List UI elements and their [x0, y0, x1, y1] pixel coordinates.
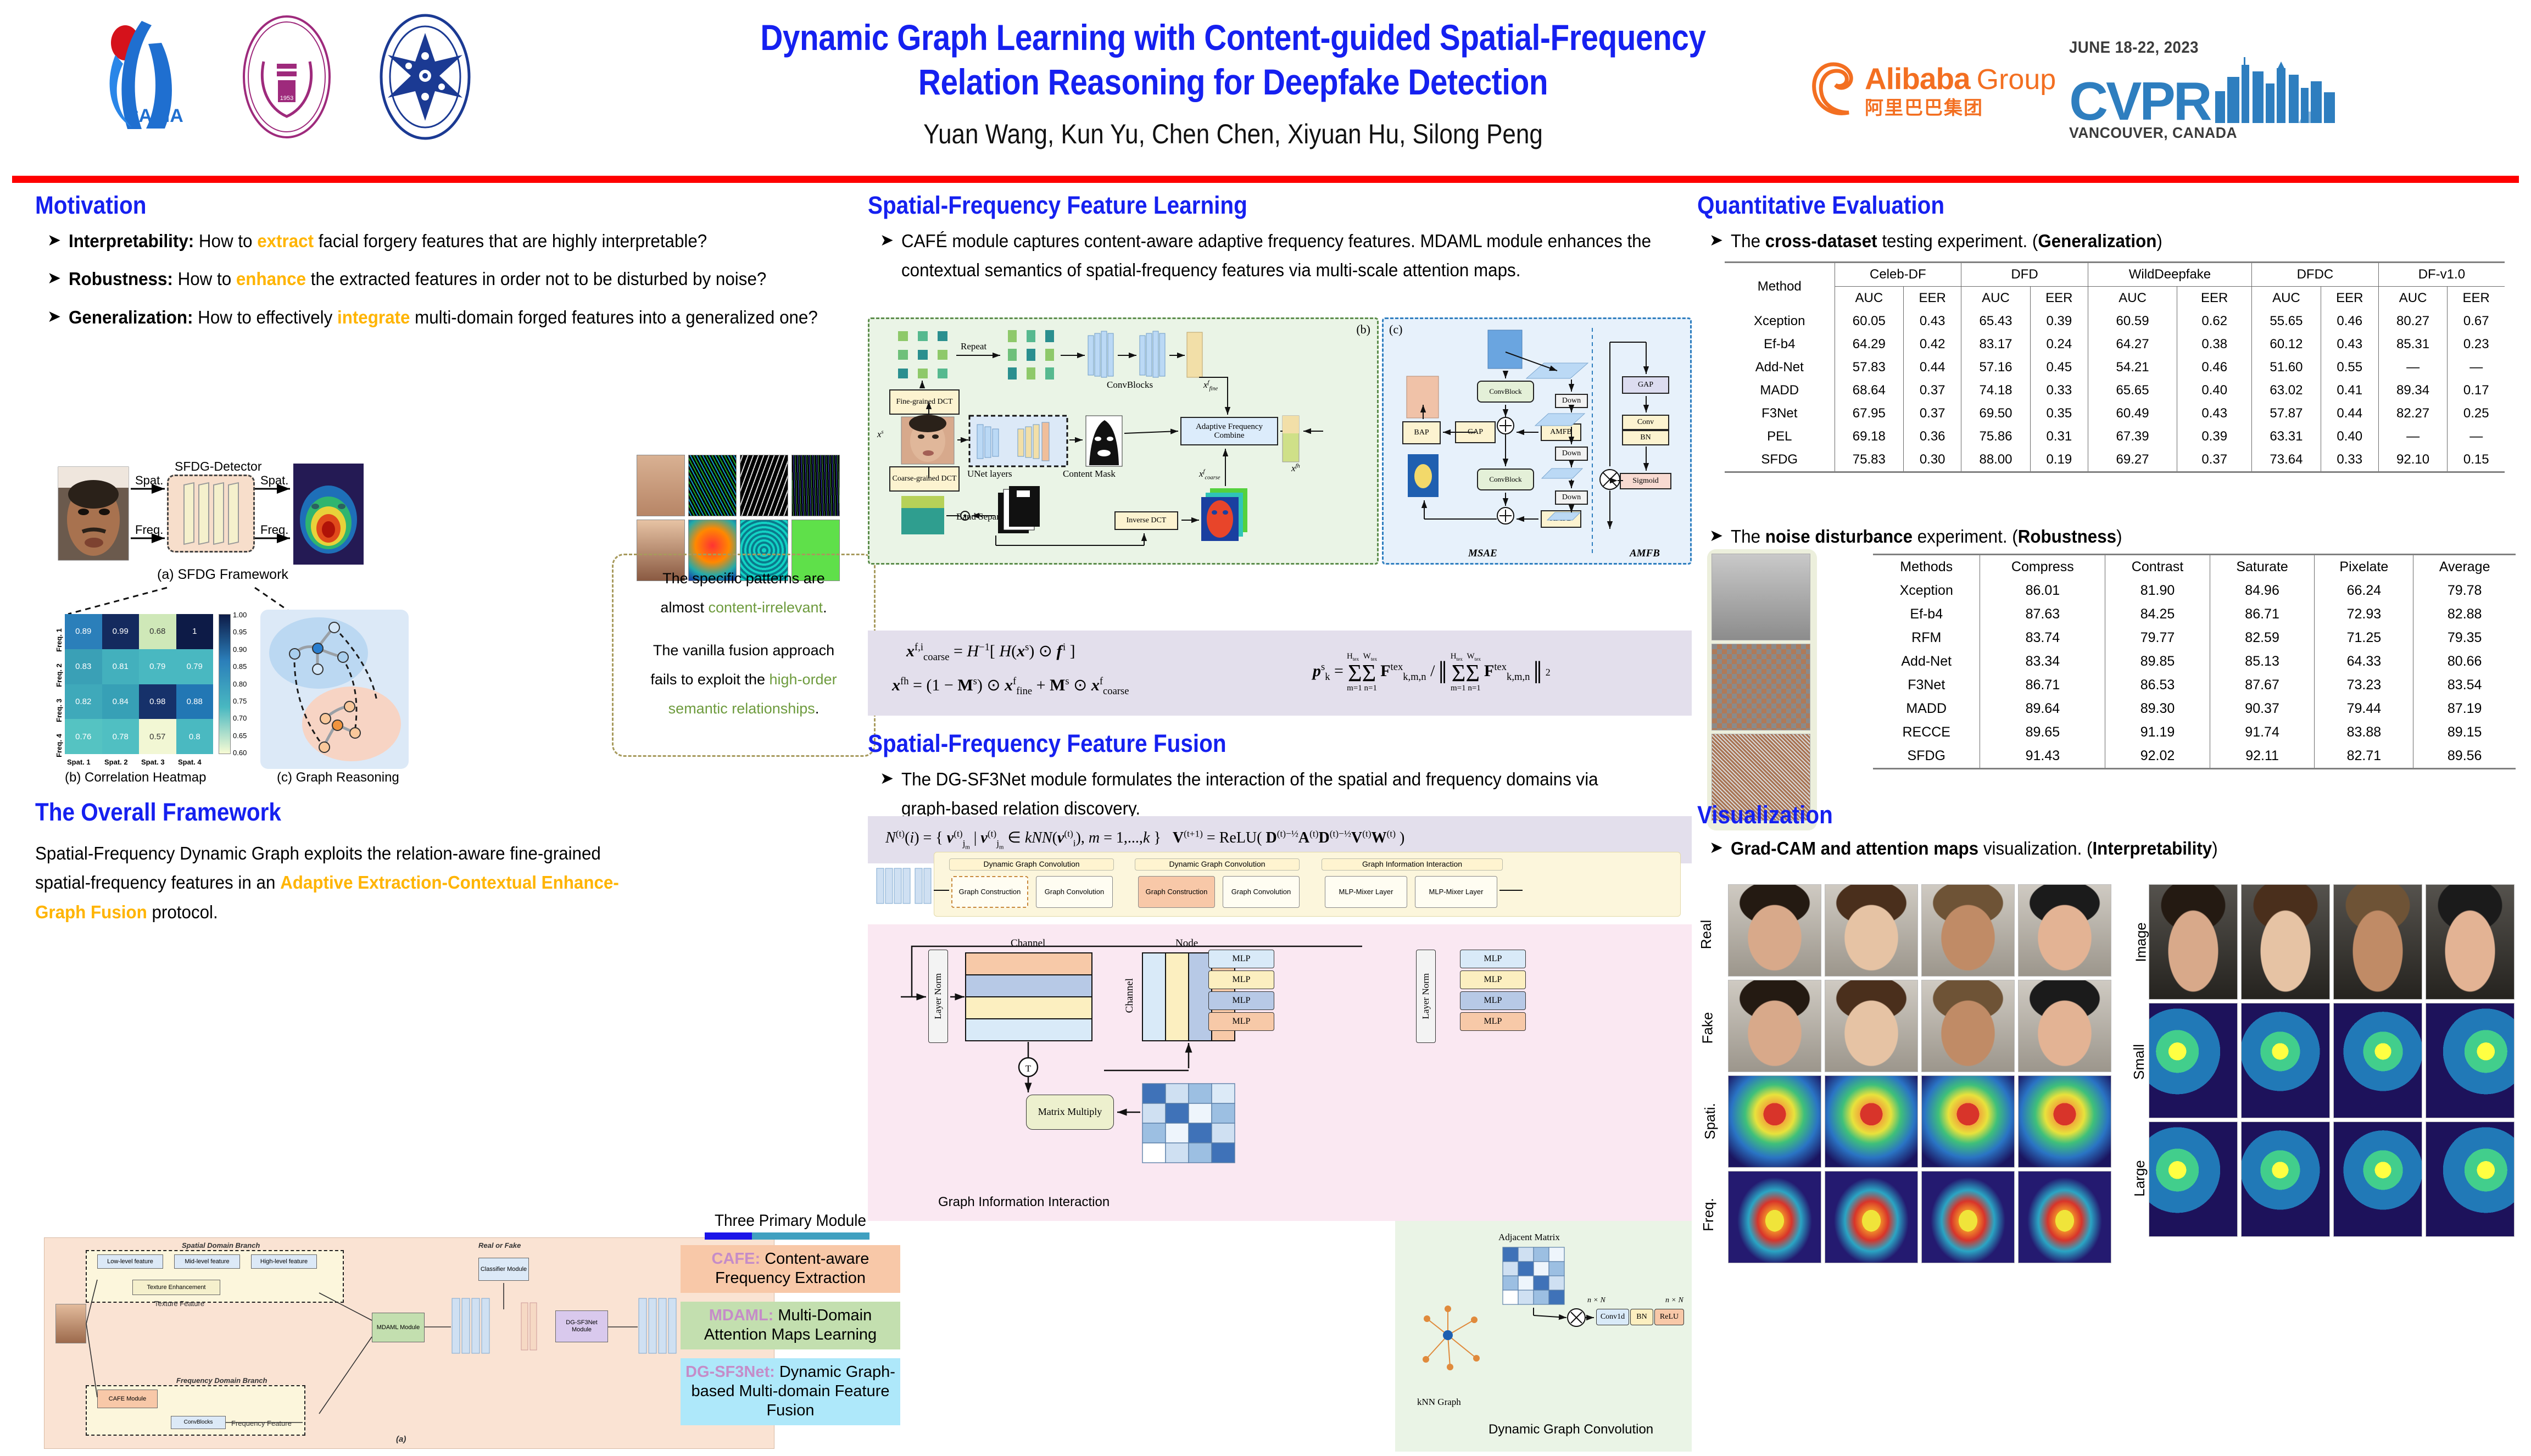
gen-row-cell: 80.27 [2378, 310, 2448, 333]
graph-node [289, 648, 300, 660]
visualization-section: Visualization ➤ Grad-CAM and attention m… [1697, 801, 2243, 872]
table-row: SFDG75.830.3088.000.1969.270.3773.640.33… [1725, 448, 2505, 471]
fw-box-cafe-module: CAFE Module [97, 1390, 158, 1408]
heatmap-cell: 0.8 [176, 719, 214, 754]
vis-cell [2333, 1003, 2422, 1118]
fw-label-panel: (a) [396, 1435, 406, 1444]
vis-bullet-bold2: Interpretability [2093, 838, 2212, 858]
noise-example-pixelate [1712, 644, 1810, 730]
vis-row-label-spati: Spati. [1702, 1103, 1719, 1140]
pattern-cell [791, 455, 840, 516]
header-divider-rule [12, 176, 2519, 183]
heatmap-cell: 0.88 [176, 684, 214, 719]
brand-row: Alibaba Group 阿里巴巴集团 JUNE 18-22, 2023 CV… [1807, 38, 2338, 142]
rob-row-cell: 87.63 [1980, 603, 2105, 626]
layer-norm-box-right: Layer Norm [1416, 950, 1436, 1043]
noise-example-panel [1707, 549, 1817, 830]
correlation-heatmap: 0.89 0.99 0.68 1 0.83 0.81 0.79 0.79 0.8… [65, 614, 213, 754]
gen-row-cell: 0.33 [2030, 379, 2088, 402]
tpm-title: Three Primary Module [688, 1212, 893, 1230]
rob-row-method: Ef-b4 [1873, 603, 1980, 626]
gen-row-cell: 0.42 [1904, 333, 1961, 356]
cas-logo [370, 11, 480, 143]
sfdg-figure: SFDG-Detector Spat. Freq. Spat. Freq. (a… [57, 455, 617, 795]
gen-row-cell: 0.62 [2177, 310, 2252, 333]
equation-3: psk = Htex Wtex ΣΣ m=1 n=1 Ftexk,m,n / ‖… [1313, 652, 1551, 693]
fw-label-freq-feature: Frequency Feature [231, 1419, 292, 1427]
gen-row-cell: 0.55 [2321, 356, 2378, 379]
sf-learning-bullet: ➤ CAFÉ module captures content-aware ada… [880, 226, 1692, 285]
rob-table-header: Saturate [2210, 555, 2315, 579]
gen-row-cell: 65.65 [2088, 379, 2177, 402]
generalization-table-wrapper: Method Celeb-DF DFD WildDeepfake DFDC DF… [1725, 261, 2505, 473]
heatmap-cell: 0.76 [65, 719, 102, 754]
rob-row-cell: 82.59 [2210, 626, 2315, 650]
bullet-arrow-icon: ➤ [1709, 834, 1723, 863]
table-row: RFM83.7479.7782.5971.2579.35 [1873, 626, 2516, 650]
msae-amfb-diagram: (c) BAP GAP ConvBlock ConvBlock AMFB AMF… [1382, 317, 1692, 565]
graph-node [320, 713, 331, 724]
gen-row-cell: 0.35 [2030, 402, 2088, 425]
graph-node [337, 651, 349, 663]
mlp-mid-box-1: MLP [1208, 950, 1274, 968]
bullet-arrow-icon: ➤ [1709, 226, 1723, 255]
heatmap-cell: 0.82 [65, 684, 102, 719]
vis-cell [1825, 1075, 1918, 1168]
fw-label-spatial-branch: Spatial Domain Branch [182, 1241, 260, 1249]
vis-cell [2018, 1171, 2111, 1263]
cvpr-acronym: CVPR [2069, 79, 2210, 123]
gen-row-cell: 69.50 [1961, 402, 2031, 425]
motivation-bullet-1-highlight: extract [257, 231, 314, 251]
rob-row-cell: 82.88 [2413, 603, 2516, 626]
gen-table-metric-header: AUC [1835, 287, 1904, 310]
quantitative-bullet: ➤ The cross-dataset testing experiment. … [1709, 226, 2521, 255]
mlp-box-3: MLP [1460, 991, 1526, 1010]
gen-row-cell: 0.23 [2448, 333, 2505, 356]
heatmap-xtick-0: Spat. 1 [67, 758, 91, 766]
colorbar-tick: 0.60 [233, 749, 247, 757]
output-spat-label: Spat. [260, 473, 288, 488]
rob-table-header: Methods [1873, 555, 1980, 579]
heatmap-cell: 0.83 [65, 649, 102, 684]
graph-node [349, 727, 361, 739]
rob-row-cell: 81.90 [2105, 579, 2210, 603]
gen-row-cell: 0.46 [2177, 356, 2252, 379]
motivation-bullet-3-lead: Generalization: [69, 307, 193, 327]
svg-text:1953: 1953 [280, 95, 293, 102]
bullet-arrow-icon: ➤ [47, 226, 61, 255]
tpm-item-dgsf3net: DG-SF3Net: Dynamic Graph-based Multi-dom… [681, 1358, 900, 1425]
vis-bullet-bold: Grad-CAM and attention maps [1731, 838, 1978, 858]
rob-table-header: Average [2413, 555, 2516, 579]
vis-cell [2149, 1003, 2238, 1118]
heatmap-colorbar [219, 614, 231, 754]
gen-row-cell: 75.86 [1961, 425, 2031, 448]
gen-row-cell: 73.64 [2252, 448, 2321, 471]
diagram-b-svg [869, 319, 1380, 566]
fw-box-high-feature: High-level feature [251, 1254, 317, 1269]
overall-framework-section: The Overall Framework Spatial-Frequency … [35, 798, 859, 927]
gen-row-cell: 69.27 [2088, 448, 2177, 471]
rob-row-cell: 72.93 [2315, 603, 2413, 626]
vis-row-label-real: Real [1698, 920, 1715, 949]
middle-column: Spatial-Frequency Feature Learning ➤ CAF… [868, 191, 1692, 294]
svg-text:T: T [1025, 1063, 1032, 1074]
gen-row-cell: 85.31 [2378, 333, 2448, 356]
section-title-visualization: Visualization [1697, 801, 2189, 829]
pattern-cell [688, 455, 737, 516]
quant-bullet-pre: The [1731, 231, 1765, 251]
table-row: Ef-b487.6384.2586.7172.9382.88 [1873, 603, 2516, 626]
gen-table-metric-header: AUC [2252, 287, 2321, 310]
heatmap-cell: 1 [176, 614, 214, 649]
rob-row-cell: 86.71 [2210, 603, 2315, 626]
rob-row-cell: 79.77 [2105, 626, 2210, 650]
note-highlight: content-irrelevant [708, 599, 823, 616]
diagram-c-svg [1384, 319, 1693, 566]
motivation-bullet-1: ➤ Interpretability: How to extract facia… [47, 226, 859, 255]
gen-row-cell: 60.05 [1835, 310, 1904, 333]
rob-row-cell: 79.35 [2413, 626, 2516, 650]
rob-row-cell: 64.33 [2315, 650, 2413, 673]
rob-row-cell: 85.13 [2210, 650, 2315, 673]
graph-node [328, 622, 340, 633]
alibaba-mark-icon [1807, 60, 1859, 120]
gen-table-method-header: Method [1725, 263, 1835, 310]
svg-text:n × N: n × N [1665, 1296, 1683, 1304]
table-row: F3Net67.950.3769.500.3560.490.4357.870.4… [1725, 402, 2505, 425]
motivation-bullet-2-post: the extracted features in order not to b… [306, 269, 766, 289]
alibaba-logo: Alibaba Group 阿里巴巴集团 [1807, 60, 2056, 120]
input-freq-label: Freq. [135, 523, 163, 537]
gen-row-method: Xception [1725, 310, 1835, 333]
gen-row-cell: 89.34 [2378, 379, 2448, 402]
rob-row-cell: 86.53 [2105, 673, 2210, 697]
rob-bullet-bold1: noise disturbance [1765, 526, 1913, 546]
rob-row-method: SFDG [1873, 744, 1980, 768]
poster-header: CASIA 1953 [0, 0, 2531, 187]
rob-row-cell: 84.25 [2105, 603, 2210, 626]
gen-row-cell: 0.41 [2321, 379, 2378, 402]
generalization-table: Method Celeb-DF DFD WildDeepfake DFDC DF… [1725, 261, 2505, 471]
fw-box-texture-enhancement: Texture Enhancement [132, 1280, 220, 1295]
fw-label-real-or-fake: Real or Fake [478, 1241, 521, 1249]
gen-row-method: F3Net [1725, 402, 1835, 425]
colorbar-tick: 0.90 [233, 645, 247, 654]
mlp-mixer-panel: Layer Norm MLP MLP MLP MLP [1394, 924, 1692, 1221]
gen-table-metric-header: EER [2030, 287, 2088, 310]
gen-row-cell: 0.19 [2030, 448, 2088, 471]
gen-row-cell: 0.44 [1904, 356, 1961, 379]
vis-cell [2426, 1122, 2515, 1237]
gen-row-cell: 0.24 [2030, 333, 2088, 356]
svg-text:n × N: n × N [1587, 1296, 1605, 1304]
sfdg-caption-b: (b) Correlation Heatmap [65, 770, 206, 785]
vis-cell [2426, 884, 2515, 1000]
gen-row-cell: — [2448, 425, 2505, 448]
colorbar-tick: 0.95 [233, 628, 247, 636]
rob-row-cell: 83.54 [2413, 673, 2516, 697]
note-text: almost [660, 599, 708, 616]
table-row: Xception60.050.4365.430.3960.590.6255.65… [1725, 310, 2505, 333]
section-title-sf-fusion: Spatial-Frequency Feature Fusion [868, 729, 1609, 758]
quant-bullet-mid: testing experiment. ( [1877, 231, 2038, 251]
fw-box-convblocks: ConvBlocks [171, 1416, 226, 1429]
fw-box-dgsf3net-module: DG-SF3Net Module [555, 1310, 608, 1342]
visualization-grids: Real Fake Spati. Freq. Image Small Large [1697, 879, 2521, 1274]
gen-row-cell: 55.65 [2252, 310, 2321, 333]
left-column: Motivation ➤ Interpretability: How to ex… [35, 191, 859, 341]
rob-row-method: MADD [1873, 697, 1980, 721]
bullet-arrow-icon: ➤ [47, 303, 61, 332]
tpm-dg-key: DG-SF3Net: [685, 1363, 775, 1381]
motivation-bullet-3-post: multi-domain forged features into a gene… [410, 307, 818, 327]
gen-table-metric-header: EER [2177, 287, 2252, 310]
equation-band-1: xf,icoarse = H−1[ H(xs) ⊙ f i ] xfh = (1… [868, 631, 1692, 716]
vis-bullet-rest: visualization. ( [1978, 838, 2092, 858]
logo-row: CASIA 1953 [93, 11, 480, 143]
gen-row-cell: — [2378, 425, 2448, 448]
bullet-arrow-icon: ➤ [880, 765, 894, 823]
vis-cell [1921, 1075, 2015, 1168]
overall-framework-text: Spatial-Frequency Dynamic Graph exploits… [35, 839, 640, 927]
robustness-table-body: Xception86.0181.9084.9666.2479.78Ef-b487… [1873, 579, 2516, 768]
table-row: Add-Net83.3489.8585.1364.3380.66 [1873, 650, 2516, 673]
equation-2: xfh = (1 − Ms) ⊙ xffine + Ms ⊙ xfcoarse [892, 676, 1129, 698]
gen-table-metric-header: AUC [2378, 287, 2448, 310]
gen-table-metric-header: EER [1904, 287, 1961, 310]
fw-box-low-feature: Low-level feature [97, 1254, 163, 1269]
fusion-top-svg [868, 842, 1692, 924]
motivation-bullet-3: ➤ Generalization: How to effectively int… [47, 303, 859, 332]
output-freq-label: Freq. [260, 523, 288, 537]
heatmap-cell: 0.78 [102, 719, 140, 754]
vancouver-skyline-icon [2212, 57, 2338, 123]
vis-row-label-fake: Fake [1699, 1012, 1716, 1044]
robustness-table-wrapper: Methods Compress Contrast Saturate Pixel… [1873, 554, 2516, 769]
motivation-bullet-3-pre: How to effectively [193, 307, 338, 327]
gen-row-cell: — [2448, 356, 2505, 379]
casia-logo: CASIA [93, 11, 203, 143]
rob-row-method: RFM [1873, 626, 1980, 650]
gen-row-cell: 0.39 [2177, 425, 2252, 448]
section-title-quantitative: Quantitative Evaluation [1697, 191, 2439, 220]
gen-row-cell: 0.31 [2030, 425, 2088, 448]
mlp-box-4: MLP [1460, 1012, 1526, 1031]
cvpr-date: JUNE 18-22, 2023 [2069, 38, 2317, 57]
rob-row-cell: 79.44 [2315, 697, 2413, 721]
rob-row-cell: 92.02 [2105, 744, 2210, 768]
rob-row-cell: 91.19 [2105, 721, 2210, 744]
graph-node [312, 663, 324, 675]
rob-row-cell: 84.96 [2210, 579, 2315, 603]
fw-label-freq-branch: Frequency Domain Branch [176, 1376, 267, 1385]
motivation-bullet-2-pre: How to [173, 269, 236, 289]
vis-bullet-end: ) [2212, 838, 2217, 858]
colorbar-tick: 0.80 [233, 680, 247, 688]
gen-row-cell: 0.38 [2177, 333, 2252, 356]
casia-logo-text: CASIA [125, 105, 183, 126]
title-block: Dynamic Graph Learning with Content-guid… [648, 15, 1818, 150]
sfdg-caption-c: (c) Graph Reasoning [277, 770, 399, 785]
gen-row-cell: 63.02 [2252, 379, 2321, 402]
rob-row-cell: 87.19 [2413, 697, 2516, 721]
gen-row-cell: 60.12 [2252, 333, 2321, 356]
heatmap-cell: 0.89 [65, 614, 102, 649]
gen-row-method: Ef-b4 [1725, 333, 1835, 356]
poster-title-line-1: Dynamic Graph Learning with Content-guid… [730, 15, 1736, 60]
gen-row-cell: 83.17 [1961, 333, 2031, 356]
sf-fusion-bullet: ➤ The DG-SF3Net module formulates the in… [880, 765, 1692, 823]
gen-row-cell: 0.44 [2321, 402, 2378, 425]
rob-row-cell: 89.30 [2105, 697, 2210, 721]
note-text: . [823, 599, 827, 616]
gen-row-cell: 54.21 [2088, 356, 2177, 379]
table-row: MADD68.640.3774.180.3365.650.4063.020.41… [1725, 379, 2505, 402]
heatmap-colorbar-ticks: 1.00 0.95 0.90 0.85 0.80 0.75 0.70 0.65 … [233, 611, 247, 757]
mlp-mid-box-3: MLP [1208, 991, 1274, 1010]
vis-cell [1825, 980, 1918, 1072]
vis-cell [1825, 1171, 1918, 1263]
gen-row-cell: 0.46 [2321, 310, 2378, 333]
vis-cell [2149, 884, 2238, 1000]
vis-cell [1921, 884, 2015, 977]
graph-node [312, 643, 324, 654]
rob-row-method: F3Net [1873, 673, 1980, 697]
colorbar-tick: 0.75 [233, 697, 247, 705]
fw-box-mid-feature: Mid-level feature [174, 1254, 240, 1269]
vis-cell [2241, 1122, 2330, 1237]
vis-cell [2241, 884, 2330, 1000]
vis-row-label-freq: Freq. [1700, 1198, 1717, 1231]
gen-row-cell: 0.43 [2177, 402, 2252, 425]
framework-text-post: protocol. [147, 902, 218, 922]
motivation-bullet-2-highlight: enhance [236, 269, 306, 289]
gen-row-cell: 67.95 [1835, 402, 1904, 425]
alibaba-chinese-text: 阿里巴巴集团 [1865, 93, 2056, 120]
gen-row-cell: 0.37 [1904, 379, 1961, 402]
gen-row-method: SFDG [1725, 448, 1835, 471]
heatmap-xtick-1: Spat. 2 [104, 758, 128, 766]
overall-framework-figure: Spatial Domain Branch Real or Fake Frequ… [44, 1237, 774, 1449]
vis-cell [1825, 884, 1918, 977]
gen-row-cell: 75.83 [1835, 448, 1904, 471]
heatmap-ytick-0: Freq. 1 [55, 628, 63, 652]
rob-row-cell: 91.43 [1980, 744, 2105, 768]
note-line-2: The vanilla fusion approach fails to exp… [625, 636, 863, 723]
gen-row-cell: 0.15 [2448, 448, 2505, 471]
rob-row-cell: 73.23 [2315, 673, 2413, 697]
table-row: F3Net86.7186.5387.6773.2383.54 [1873, 673, 2516, 697]
equation-1: xf,icoarse = H−1[ H(xs) ⊙ f i ] [906, 641, 1075, 663]
vis-row-label-image: Image [2133, 922, 2150, 962]
gen-row-cell: 0.40 [2321, 425, 2378, 448]
gen-row-cell: 0.36 [1904, 425, 1961, 448]
gen-row-cell: 0.40 [2177, 379, 2252, 402]
colorbar-tick: 0.85 [233, 662, 247, 671]
rob-row-cell: 71.25 [2315, 626, 2413, 650]
heatmap-ytick-1: Freq. 2 [55, 663, 63, 687]
heatmap-cell: 0.57 [139, 719, 176, 754]
rob-row-cell: 92.11 [2210, 744, 2315, 768]
heatmap-xtick-3: Spat. 4 [178, 758, 202, 766]
pattern-cell-real-face [637, 455, 685, 516]
gen-table-metric-header: AUC [2088, 287, 2177, 310]
gen-row-cell: 0.17 [2448, 379, 2505, 402]
quant-bullet-bold2: Generalization [2038, 231, 2156, 251]
dgsf3net-figure: Dynamic Graph Convolution Dynamic Graph … [868, 842, 1692, 1456]
graph-node [319, 741, 330, 753]
gen-row-cell: 0.43 [1904, 310, 1961, 333]
sfdg-detector-box [167, 475, 255, 553]
heatmap-cell: 0.84 [102, 684, 140, 719]
vis-grid-right [2149, 884, 2515, 1237]
rob-row-cell: 90.37 [2210, 697, 2315, 721]
table-row: SFDG91.4392.0292.1182.7189.56 [1873, 744, 2516, 768]
poster-title-line-2: Relation Reasoning for Deepfake Detectio… [730, 60, 1736, 104]
note-text: fails to exploit the [650, 671, 769, 688]
vis-cell [2149, 1122, 2238, 1237]
mlp-box-2: MLP [1460, 970, 1526, 989]
bullet-arrow-icon: ➤ [880, 226, 894, 285]
table-row: Add-Net57.830.4457.160.4554.210.4651.600… [1725, 356, 2505, 379]
gen-row-cell: 0.45 [2030, 356, 2088, 379]
table-row: RECCE89.6591.1991.7483.8889.15 [1873, 721, 2516, 744]
gen-row-cell: 0.43 [2321, 333, 2378, 356]
generalization-table-body: Xception60.050.4365.430.3960.590.6255.65… [1725, 310, 2505, 471]
gen-row-cell: 65.43 [1961, 310, 2031, 333]
gen-table-dataset-header: DFDC [2252, 263, 2379, 287]
gen-table-metric-header: EER [2321, 287, 2378, 310]
cafe-module-diagram: (b) Fine-grained DCT Coarse-grained DCT … [868, 317, 1379, 565]
tpm-color-bar [705, 1232, 869, 1240]
quant-bullet-end: ) [2157, 231, 2162, 251]
rob-row-cell: 91.74 [2210, 721, 2315, 744]
note-highlight: semantic relationships [668, 700, 815, 717]
heatmap-cell: 0.99 [102, 614, 140, 649]
gen-row-cell: 57.16 [1961, 356, 2031, 379]
gen-row-cell: 64.29 [1835, 333, 1904, 356]
rob-table-header: Pixelate [2315, 555, 2413, 579]
rob-row-method: RECCE [1873, 721, 1980, 744]
gen-row-cell: 0.67 [2448, 310, 2505, 333]
motivation-bullet-1-post: facial forgery features that are highly … [314, 231, 707, 251]
fw-label-texture-feature: Texture Feature [154, 1299, 204, 1308]
gen-row-method: PEL [1725, 425, 1835, 448]
section-title-motivation: Motivation [35, 191, 777, 220]
vis-cell [1921, 1171, 2015, 1263]
gen-row-cell: 74.18 [1961, 379, 2031, 402]
mlp-box-1: MLP [1460, 950, 1526, 968]
dgc-svg: n × N n × N [1395, 1221, 1692, 1452]
rob-table-header: Compress [1980, 555, 2105, 579]
rob-row-cell: 82.71 [2315, 744, 2413, 768]
heatmap-cell: 0.81 [102, 649, 140, 684]
rob-row-cell: 83.88 [2315, 721, 2413, 744]
vis-cell [1728, 1171, 1821, 1263]
graph-reasoning-panel [260, 610, 409, 769]
motivation-bullet-1-lead: Interpretability: [69, 231, 194, 251]
vis-cell [2018, 1075, 2111, 1168]
tpm-item-mdaml: MDAML: Multi-Domain Attention Maps Learn… [681, 1302, 900, 1349]
pattern-cell [740, 455, 788, 516]
gen-row-method: Add-Net [1725, 356, 1835, 379]
heatmap-xtick-2: Spat. 3 [141, 758, 165, 766]
vis-row-label-small: Small [2131, 1044, 2148, 1080]
robustness-bullet: ➤ The noise disturbance experiment. (Rob… [1709, 522, 2521, 551]
table-row: PEL69.180.3675.860.3167.390.3963.310.40—… [1725, 425, 2505, 448]
